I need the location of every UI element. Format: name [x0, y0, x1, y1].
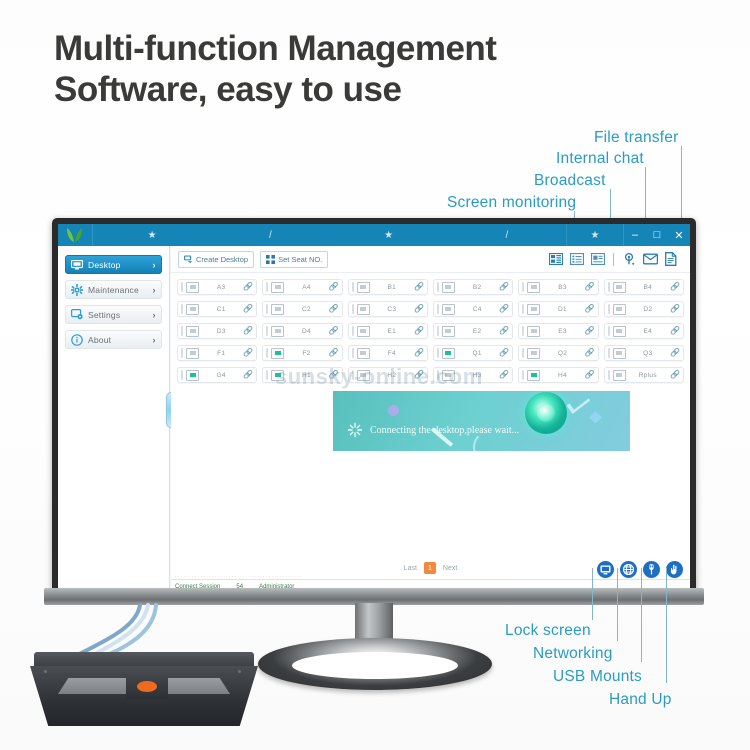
seat-item[interactable]: C4🔗	[433, 301, 513, 317]
seat-monitor-icon-active	[442, 348, 455, 359]
seat-bar	[352, 282, 354, 292]
seat-bar	[608, 348, 610, 358]
callout-hand-up: Hand Up	[609, 691, 672, 709]
seat-grid-icon	[266, 255, 275, 264]
callout-usb-mounts: USB Mounts	[553, 668, 642, 686]
seat-row: C1🔗 C2🔗 C3🔗 C4🔗 D1🔗 D2🔗	[177, 301, 684, 317]
link-icon: 🔗	[243, 305, 253, 313]
link-icon: 🔗	[499, 371, 509, 379]
seat-item[interactable]: B2🔗	[433, 279, 513, 295]
broadcast-icon[interactable]	[621, 252, 637, 266]
seat-item[interactable]: D3🔗	[177, 323, 257, 339]
seat-item[interactable]: E1🔗	[348, 323, 428, 339]
seat-monitor-icon	[527, 326, 540, 337]
pagination-prev[interactable]: Last	[404, 565, 417, 572]
seat-monitor-icon	[357, 282, 370, 293]
seat-item[interactable]: F4🔗	[348, 345, 428, 361]
seat-monitor-icon	[271, 326, 284, 337]
seat-label: C4	[455, 306, 499, 313]
link-icon: 🔗	[329, 283, 339, 291]
link-icon: 🔗	[329, 327, 339, 335]
sidebar-item-label-about: About	[88, 335, 147, 345]
seat-item[interactable]: Rplus🔗	[604, 367, 684, 383]
list-view-icon[interactable]	[569, 252, 585, 266]
monitor-stand-base	[258, 638, 492, 690]
seat-monitor-icon	[527, 282, 540, 293]
seat-label: E3	[540, 328, 584, 335]
link-icon: 🔗	[414, 327, 424, 335]
poster-stage: Multi-function Management Software, easy…	[0, 0, 750, 750]
seat-bar	[181, 370, 183, 380]
seat-label: E2	[455, 328, 499, 335]
device-screw	[44, 670, 47, 673]
headline-line-1: Multi-function Management	[54, 28, 614, 69]
info-icon	[66, 334, 88, 346]
seat-monitor-icon	[186, 282, 199, 293]
spinner-icon	[347, 422, 363, 438]
titlebar-segment-2: /	[211, 224, 329, 246]
app-titlebar: ★ / ★ / ★ – □ ✕	[58, 224, 690, 246]
chevron-right-icon-4: ›	[147, 335, 161, 345]
seat-monitor-icon-active	[271, 348, 284, 359]
seat-label: E4	[626, 328, 670, 335]
link-icon: 🔗	[585, 371, 595, 379]
seat-bar	[181, 304, 183, 314]
seat-bar	[522, 304, 524, 314]
leader-line-lock-screen	[592, 568, 593, 620]
seat-monitor-icon	[613, 326, 626, 337]
link-icon: 🔗	[585, 327, 595, 335]
callout-networking: Networking	[533, 645, 613, 663]
link-icon: 🔗	[243, 327, 253, 335]
page-title: Multi-function Management Software, easy…	[54, 28, 614, 110]
seat-label: H2	[370, 372, 414, 379]
seat-label: B1	[370, 284, 414, 291]
minimize-button[interactable]: –	[624, 224, 646, 246]
seat-label: A3	[199, 284, 243, 291]
seat-item[interactable]: B3🔗	[518, 279, 598, 295]
seat-bar	[608, 370, 610, 380]
device-top	[34, 652, 254, 668]
gear-icon	[66, 284, 88, 296]
titlebar-segment-1: ★	[93, 224, 211, 246]
link-icon: 🔗	[585, 349, 595, 357]
seat-monitor-icon	[527, 348, 540, 359]
toolbar-icon-group	[548, 252, 683, 266]
seat-label: F4	[370, 350, 414, 357]
titlebar-segment-3: ★	[330, 224, 448, 246]
callout-file-transfer: File transfer	[594, 129, 678, 147]
close-button[interactable]: ✕	[668, 224, 690, 246]
seat-item[interactable]: B4🔗	[604, 279, 684, 295]
monitor-frame: ★ / ★ / ★ – □ ✕ Desktop	[52, 218, 696, 593]
create-desktop-label: Create Desktop	[196, 255, 248, 264]
link-icon: 🔗	[414, 349, 424, 357]
decor-diamond	[589, 411, 602, 424]
seat-monitor-icon	[442, 282, 455, 293]
seat-bar	[608, 304, 610, 314]
seat-label: H3	[455, 372, 499, 379]
connecting-message-row: Connecting the desktop,please wait...	[347, 422, 519, 438]
device-power-button[interactable]	[126, 674, 168, 699]
seat-item[interactable]: C3🔗	[348, 301, 428, 317]
seat-item[interactable]: H3🔗	[433, 367, 513, 383]
seat-item[interactable]: E3🔗	[518, 323, 598, 339]
content-pane: Create Desktop Set Seat NO.	[171, 246, 690, 593]
seat-label: Q1	[455, 350, 499, 357]
seat-bar	[181, 282, 183, 292]
callout-internal-chat: Internal chat	[556, 150, 644, 168]
seat-grid: A3🔗 A4🔗 B1🔗 B2🔗 B3🔗 B4🔗 C1🔗 C2🔗 C3🔗 C4🔗 …	[171, 273, 690, 383]
seat-row: A3🔗 A4🔗 B1🔗 B2🔗 B3🔗 B4🔗	[177, 279, 684, 295]
sidebar-item-label-maintenance: Maintenance	[88, 285, 147, 295]
link-icon-disconnected: 🔗	[670, 371, 680, 379]
leader-line-usb-mounts	[641, 568, 642, 662]
seat-monitor-icon	[613, 348, 626, 359]
seat-bar	[437, 326, 439, 336]
seat-item[interactable]: H2🔗	[348, 367, 428, 383]
sidebar: Desktop › Maintenance › Settings ›	[58, 246, 170, 593]
connecting-dialog: Connecting the desktop,please wait...	[333, 391, 630, 451]
seat-monitor-icon	[442, 304, 455, 315]
seat-label: F2	[284, 350, 328, 357]
seat-monitor-icon	[613, 282, 626, 293]
link-icon: 🔗	[329, 371, 339, 379]
seat-bar	[608, 282, 610, 292]
decor-chevron	[567, 392, 591, 414]
seat-monitor-icon	[271, 282, 284, 293]
link-icon: 🔗	[499, 283, 509, 291]
sidebar-item-desktop[interactable]: Desktop ›	[65, 255, 162, 274]
link-icon: 🔗	[243, 349, 253, 357]
seat-label: Q2	[540, 350, 584, 357]
seat-monitor-icon	[357, 370, 370, 381]
seat-bar	[181, 326, 183, 336]
link-icon: 🔗	[414, 283, 424, 291]
sidebar-item-label-settings: Settings	[88, 310, 147, 320]
link-icon: 🔗	[585, 305, 595, 313]
maximize-button[interactable]: □	[646, 224, 668, 246]
seat-bar	[437, 282, 439, 292]
chevron-right-icon-2: ›	[147, 285, 161, 295]
seat-bar	[181, 348, 183, 358]
device-screw	[238, 670, 241, 673]
grid-view-icon[interactable]	[548, 252, 564, 266]
seat-bar	[522, 326, 524, 336]
link-icon: 🔗	[414, 305, 424, 313]
seat-label: Rplus	[626, 372, 670, 379]
seat-label: C2	[284, 306, 328, 313]
link-icon: 🔗	[499, 349, 509, 357]
seat-bar	[608, 326, 610, 336]
leaf-logo-icon	[58, 224, 92, 246]
seat-label: H1	[284, 372, 328, 379]
power-led-icon	[137, 681, 157, 692]
seat-item[interactable]: G4🔗	[177, 367, 257, 383]
seat-item[interactable]: F1🔗	[177, 345, 257, 361]
link-icon: 🔗	[585, 283, 595, 291]
thin-client-device	[30, 652, 258, 726]
link-icon-disconnected: 🔗	[329, 305, 339, 313]
seat-label: F1	[199, 350, 243, 357]
seat-row: G4🔗 H1🔗 H2🔗 H3🔗 H4🔗 Rplus🔗	[177, 367, 684, 383]
seat-item[interactable]: Q2🔗	[518, 345, 598, 361]
seat-row: D3🔗 D4🔗 E1🔗 E2🔗 E3🔗 E4🔗	[177, 323, 684, 339]
seat-item[interactable]: E4🔗	[604, 323, 684, 339]
link-icon: 🔗	[670, 327, 680, 335]
seat-item[interactable]: E2🔗	[433, 323, 513, 339]
seat-monitor-icon	[357, 348, 370, 359]
window-controls: – □ ✕	[624, 224, 690, 246]
chevron-right-icon-3: ›	[147, 310, 161, 320]
link-icon: 🔗	[670, 283, 680, 291]
seat-item[interactable]: Q1🔗	[433, 345, 513, 361]
create-desktop-button[interactable]: Create Desktop	[178, 251, 254, 268]
content-toolbar: Create Desktop Set Seat NO.	[171, 246, 690, 273]
seat-row: F1🔗 F2🔗 F4🔗 Q1🔗 Q2🔗 Q3🔗	[177, 345, 684, 361]
seat-bar	[266, 370, 268, 380]
link-icon: 🔗	[670, 305, 680, 313]
sidebar-item-about[interactable]: About ›	[65, 330, 162, 349]
seat-label: B4	[626, 284, 670, 291]
app-window: ★ / ★ / ★ – □ ✕ Desktop	[58, 224, 690, 593]
pagination-next[interactable]: Next	[443, 565, 457, 572]
seat-monitor-icon-active	[527, 370, 540, 381]
sidebar-item-label-desktop: Desktop	[88, 260, 147, 270]
seat-monitor-icon	[357, 304, 370, 315]
seat-monitor-icon	[442, 370, 455, 381]
decor-dot	[388, 405, 399, 416]
seat-label: B2	[455, 284, 499, 291]
sidebar-item-maintenance[interactable]: Maintenance ›	[65, 280, 162, 299]
seat-label: Q3	[626, 350, 670, 357]
seat-bar	[437, 370, 439, 380]
link-icon: 🔗	[414, 371, 424, 379]
link-icon: 🔗	[670, 349, 680, 357]
card-view-icon[interactable]	[590, 252, 606, 266]
file-transfer-icon[interactable]	[663, 252, 679, 266]
callout-screen-monitoring: Screen monitoring	[447, 194, 576, 212]
seat-monitor-icon	[613, 370, 626, 381]
seat-bar	[522, 348, 524, 358]
seat-item[interactable]: B1🔗	[348, 279, 428, 295]
seat-bar	[352, 304, 354, 314]
seat-item[interactable]: Q3🔗	[604, 345, 684, 361]
seat-label: A4	[284, 284, 328, 291]
seat-monitor-icon	[271, 304, 284, 315]
seat-label: E1	[370, 328, 414, 335]
desktop-icon	[66, 260, 88, 270]
seat-item[interactable]: C2🔗	[262, 301, 342, 317]
seat-monitor-icon	[613, 304, 626, 315]
leader-line-hand-up	[666, 568, 667, 683]
seat-bar	[352, 348, 354, 358]
leader-line-networking	[617, 568, 618, 641]
statusbar-ticker: · · · · · · · · · · · · · · · · · · · · …	[175, 574, 686, 579]
seat-monitor-icon	[357, 326, 370, 337]
link-icon: 🔗	[243, 283, 253, 291]
seat-bar	[266, 326, 268, 336]
seat-item[interactable]: D4🔗	[262, 323, 342, 339]
seat-bar	[266, 348, 268, 358]
mail-icon[interactable]	[642, 252, 658, 266]
connecting-message: Connecting the desktop,please wait...	[370, 425, 519, 436]
seat-label: G4	[199, 372, 243, 379]
create-desktop-icon	[184, 255, 193, 264]
settings-icon	[66, 309, 88, 320]
seat-item[interactable]: H4🔗	[518, 367, 598, 383]
seat-label: H4	[540, 372, 584, 379]
seat-label: C1	[199, 306, 243, 313]
seat-item[interactable]: H1🔗	[262, 367, 342, 383]
seat-item[interactable]: A4🔗	[262, 279, 342, 295]
sidebar-item-settings[interactable]: Settings ›	[65, 305, 162, 324]
seat-label: D1	[540, 306, 584, 313]
titlebar-segment-5: ★	[567, 224, 623, 246]
callout-broadcast: Broadcast	[534, 172, 606, 190]
pagination-current-page[interactable]: 1	[424, 562, 436, 574]
seat-label: C3	[370, 306, 414, 313]
seat-bar	[437, 304, 439, 314]
seat-bar	[352, 370, 354, 380]
seat-item[interactable]: F2🔗	[262, 345, 342, 361]
seat-bar	[352, 326, 354, 336]
link-icon: 🔗	[499, 305, 509, 313]
toolbar-separator	[613, 253, 614, 266]
seat-item[interactable]: D1🔗	[518, 301, 598, 317]
seat-item[interactable]: D2🔗	[604, 301, 684, 317]
seat-bar	[266, 304, 268, 314]
seat-monitor-icon	[527, 304, 540, 315]
loading-orb-icon	[525, 392, 567, 434]
callout-lock-screen: Lock screen	[505, 622, 591, 640]
seat-monitor-icon	[186, 304, 199, 315]
link-icon: 🔗	[243, 371, 253, 379]
headline-line-2: Software, easy to use	[54, 69, 614, 110]
titlebar-segment-4: /	[448, 224, 566, 246]
seat-label: D2	[626, 306, 670, 313]
seat-bar	[266, 282, 268, 292]
seat-monitor-icon	[442, 326, 455, 337]
set-seat-no-button[interactable]: Set Seat NO.	[260, 251, 328, 268]
seat-label: D3	[199, 328, 243, 335]
seat-bar	[437, 348, 439, 358]
seat-label: B3	[540, 284, 584, 291]
seat-item[interactable]: C1🔗	[177, 301, 257, 317]
seat-monitor-icon-active	[186, 370, 199, 381]
chevron-right-icon: ›	[147, 260, 161, 270]
seat-monitor-icon	[186, 348, 199, 359]
seat-item[interactable]: A3🔗	[177, 279, 257, 295]
seat-label: D4	[284, 328, 328, 335]
link-icon: 🔗	[329, 349, 339, 357]
set-seat-no-label: Set Seat NO.	[278, 255, 322, 264]
seat-bar	[522, 282, 524, 292]
seat-bar	[522, 370, 524, 380]
seat-monitor-icon-active	[271, 370, 284, 381]
seat-monitor-icon	[186, 326, 199, 337]
link-icon: 🔗	[499, 327, 509, 335]
